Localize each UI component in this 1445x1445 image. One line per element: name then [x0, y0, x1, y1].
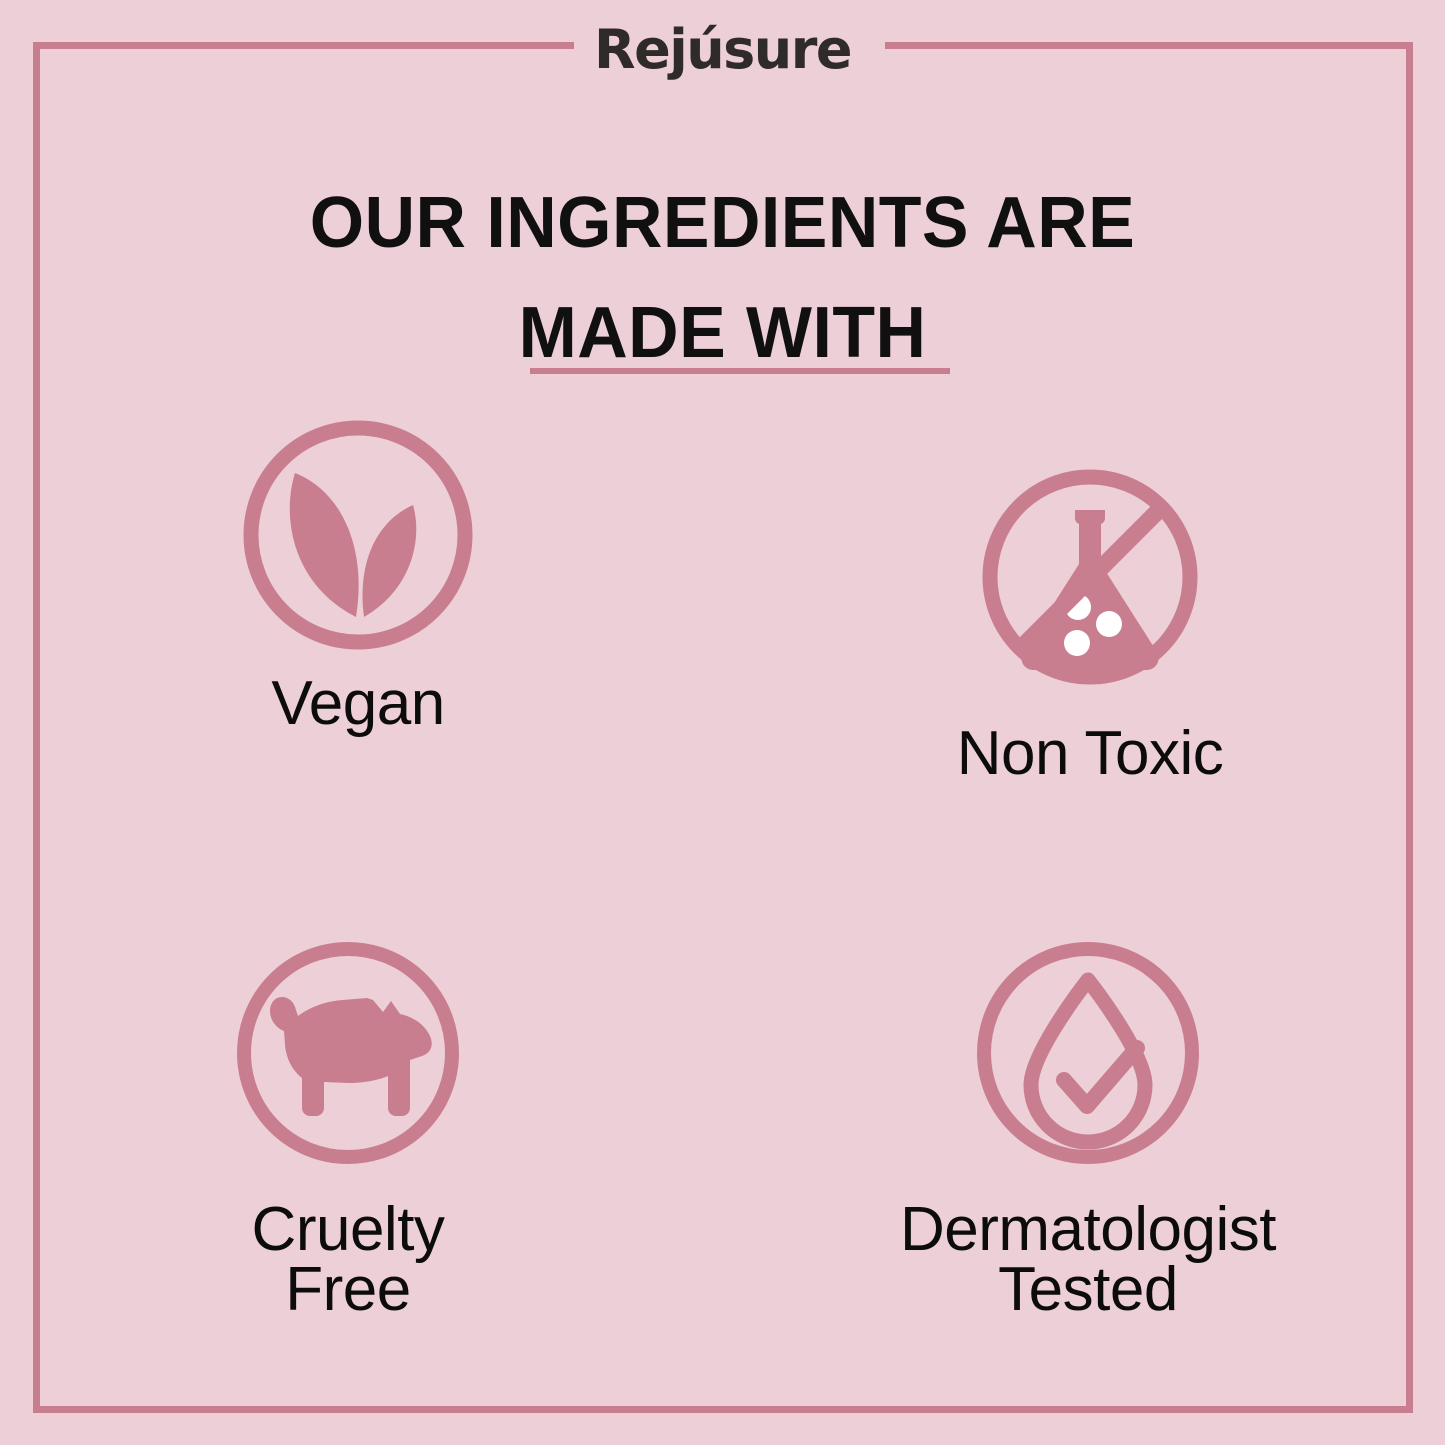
badge-label-cruelty-free: Cruelty Free — [98, 1200, 598, 1320]
promo-poster: Rejúsure OUR INGREDIENTS ARE MADE WITH V… — [0, 0, 1445, 1445]
droplet-check-circle-icon — [963, 928, 1213, 1178]
badge-cruelty-free: Cruelty Free — [98, 928, 598, 1320]
badge-label-vegan: Vegan — [108, 674, 608, 734]
frame-border-bottom — [33, 1406, 1413, 1413]
dog-circle-icon — [223, 928, 473, 1178]
badge-grid: Vegan Non Toxic Cruelty Free — [0, 400, 1445, 1400]
badge-label-dermatologist-tested: Dermatologist Tested — [838, 1200, 1338, 1320]
brand-wordmark: Rejúsure — [0, 23, 1445, 77]
badge-dermatologist-tested: Dermatologist Tested — [838, 928, 1338, 1320]
badge-label-non-toxic: Non Toxic — [840, 724, 1340, 784]
page-title: OUR INGREDIENTS ARE MADE WITH — [22, 168, 1424, 388]
badge-non-toxic: Non Toxic — [840, 452, 1340, 784]
page-title-line-1: OUR INGREDIENTS ARE — [310, 183, 1135, 263]
no-flask-icon — [965, 452, 1215, 702]
leaf-circle-icon — [233, 410, 483, 660]
title-underline — [530, 368, 950, 374]
badge-vegan: Vegan — [108, 410, 608, 734]
